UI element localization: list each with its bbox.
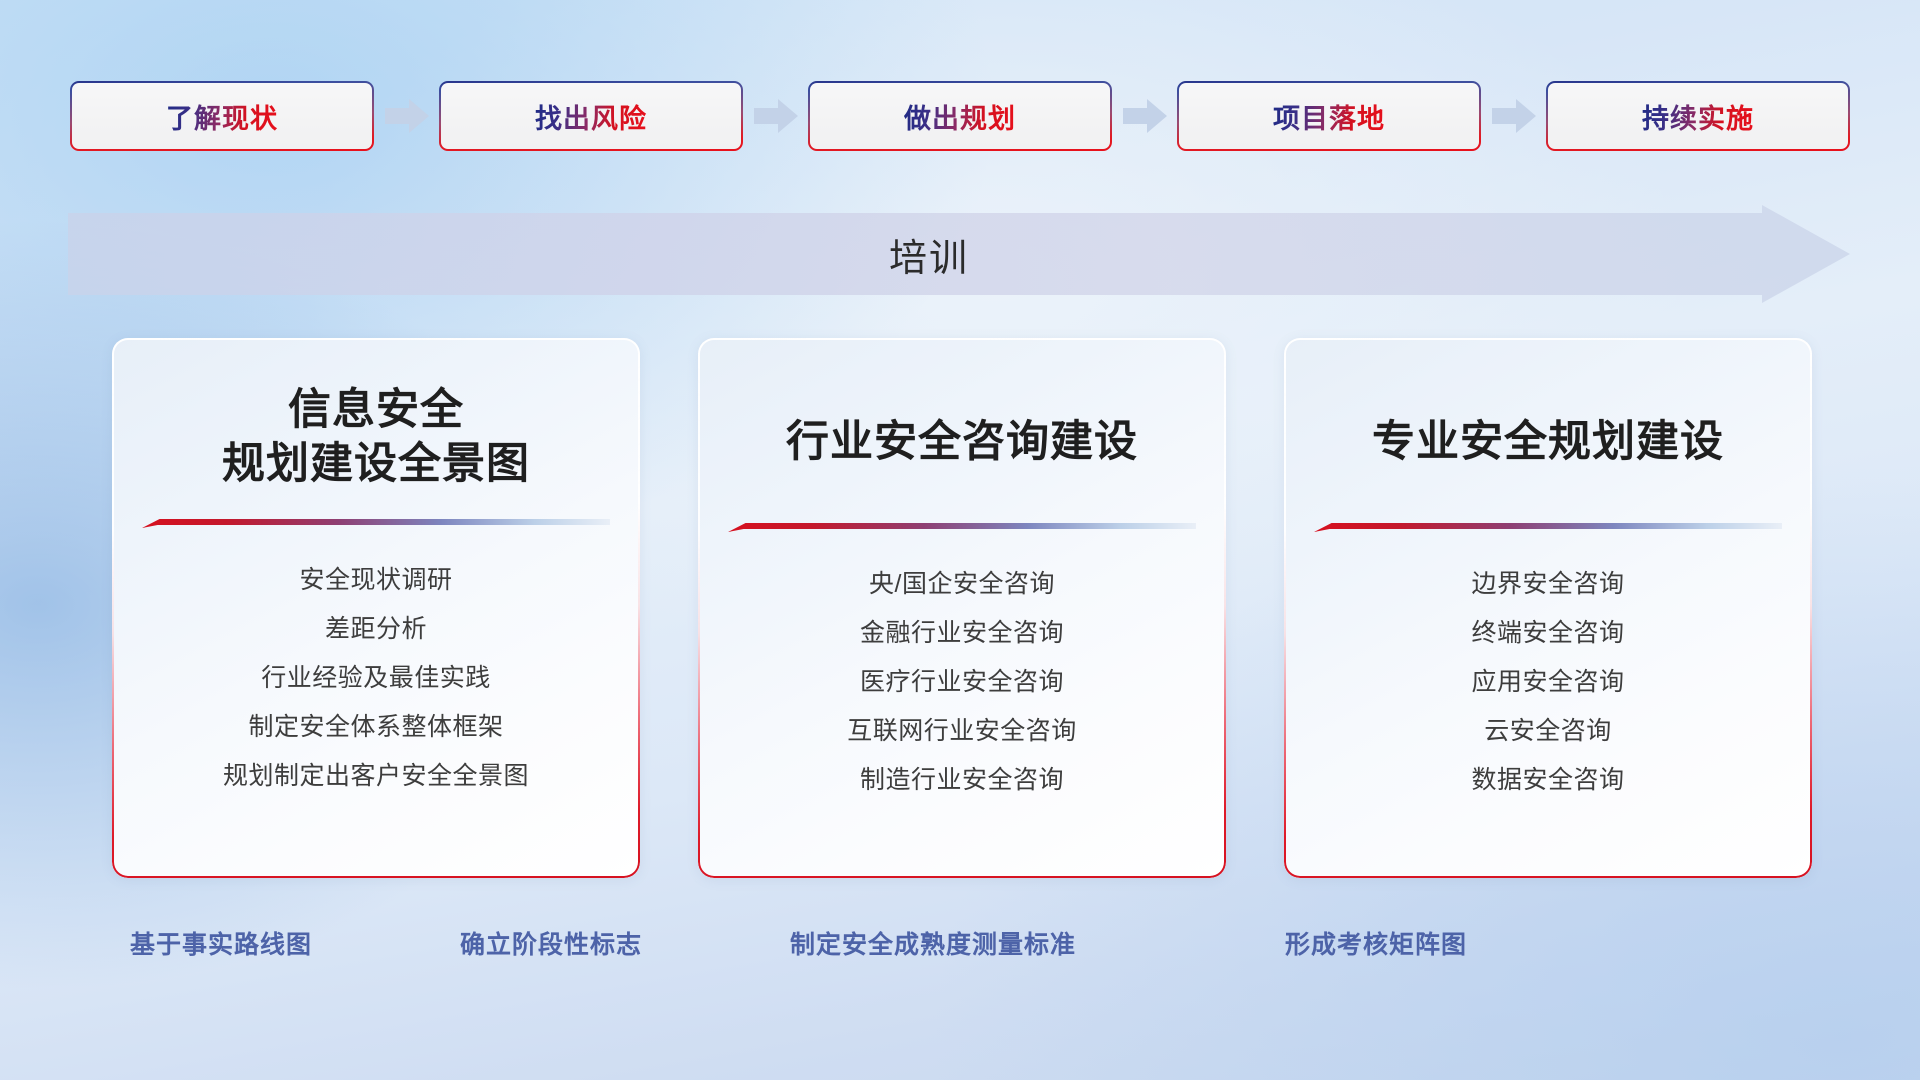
flow-step-1-label: 了解现状 xyxy=(166,97,278,136)
list-item: 金融行业安全咨询 xyxy=(722,609,1202,658)
training-banner: 培训 xyxy=(68,205,1850,303)
flow-step-2-body: 找出风险 xyxy=(441,83,741,149)
banner-label-wrap: 培训 xyxy=(68,205,1850,303)
flow-step-4[interactable]: 项目落地 xyxy=(1177,81,1481,151)
list-item: 医疗行业安全咨询 xyxy=(722,658,1202,707)
list-item: 数据安全咨询 xyxy=(1308,756,1788,805)
card-2-list: 央/国企安全咨询 金融行业安全咨询 医疗行业安全咨询 互联网行业安全咨询 制造行… xyxy=(722,560,1202,805)
card-3-list: 边界安全咨询 终端安全咨询 应用安全咨询 云安全咨询 数据安全咨询 xyxy=(1308,560,1788,805)
process-flow-row: 了解现状 找出风险 做出规划 xyxy=(70,80,1850,152)
card-1-title: 信息安全 规划建设全景图 xyxy=(136,384,616,492)
arrow-right-icon xyxy=(385,99,429,133)
card-1-divider xyxy=(142,516,610,530)
flow-step-2-label: 找出风险 xyxy=(535,97,647,136)
arrow-right-icon xyxy=(1492,99,1536,133)
list-item: 安全现状调研 xyxy=(136,556,616,605)
flow-step-2[interactable]: 找出风险 xyxy=(439,81,743,151)
list-item: 云安全咨询 xyxy=(1308,707,1788,756)
list-item: 规划制定出客户安全全景图 xyxy=(136,752,616,801)
card-3-divider xyxy=(1314,520,1782,534)
flow-step-4-body: 项目落地 xyxy=(1179,83,1479,149)
list-item: 差距分析 xyxy=(136,605,616,654)
flow-arrow-4 xyxy=(1481,99,1546,133)
flow-arrow-2 xyxy=(743,99,808,133)
card-2-title: 行业安全咨询建设 xyxy=(722,416,1202,470)
banner-label: 培训 xyxy=(889,227,969,282)
slide-canvas: 了解现状 找出风险 做出规划 xyxy=(0,0,1920,1080)
footer-label-milestones: 确立阶段性标志 xyxy=(460,925,642,961)
arrow-right-icon xyxy=(1123,99,1167,133)
flow-arrow-3 xyxy=(1112,99,1177,133)
flow-step-4-label: 项目落地 xyxy=(1273,97,1385,136)
card-professional-security-planning[interactable]: 专业安全规划建设 xyxy=(1284,338,1812,878)
card-2-divider xyxy=(728,520,1196,534)
flow-step-3[interactable]: 做出规划 xyxy=(808,81,1112,151)
arrow-right-icon xyxy=(754,99,798,133)
flow-step-5-label: 持续实施 xyxy=(1642,97,1754,136)
card-info-security-panorama[interactable]: 信息安全 规划建设全景图 xyxy=(112,338,640,878)
footer-label-roadmap: 基于事实路线图 xyxy=(130,925,312,961)
flow-step-5[interactable]: 持续实施 xyxy=(1546,81,1850,151)
list-item: 终端安全咨询 xyxy=(1308,609,1788,658)
footer-label-maturity-standard: 制定安全成熟度测量标准 xyxy=(790,925,1076,961)
flow-step-3-body: 做出规划 xyxy=(810,83,1110,149)
list-item: 制造行业安全咨询 xyxy=(722,756,1202,805)
flow-arrow-1 xyxy=(374,99,439,133)
list-item: 互联网行业安全咨询 xyxy=(722,707,1202,756)
list-item: 行业经验及最佳实践 xyxy=(136,654,616,703)
list-item: 应用安全咨询 xyxy=(1308,658,1788,707)
list-item: 央/国企安全咨询 xyxy=(722,560,1202,609)
list-item: 制定安全体系整体框架 xyxy=(136,703,616,752)
flow-step-5-body: 持续实施 xyxy=(1548,83,1848,149)
card-industry-security-consulting[interactable]: 行业安全咨询建设 xyxy=(698,338,1226,878)
flow-step-1-body: 了解现状 xyxy=(72,83,372,149)
flow-step-3-label: 做出规划 xyxy=(904,97,1016,136)
footer-label-assessment-matrix: 形成考核矩阵图 xyxy=(1285,925,1467,961)
card-1-list: 安全现状调研 差距分析 行业经验及最佳实践 制定安全体系整体框架 规划制定出客户… xyxy=(136,556,616,801)
list-item: 边界安全咨询 xyxy=(1308,560,1788,609)
card-3-title: 专业安全规划建设 xyxy=(1308,416,1788,470)
cards-row: 信息安全 规划建设全景图 xyxy=(112,338,1812,878)
flow-step-1[interactable]: 了解现状 xyxy=(70,81,374,151)
